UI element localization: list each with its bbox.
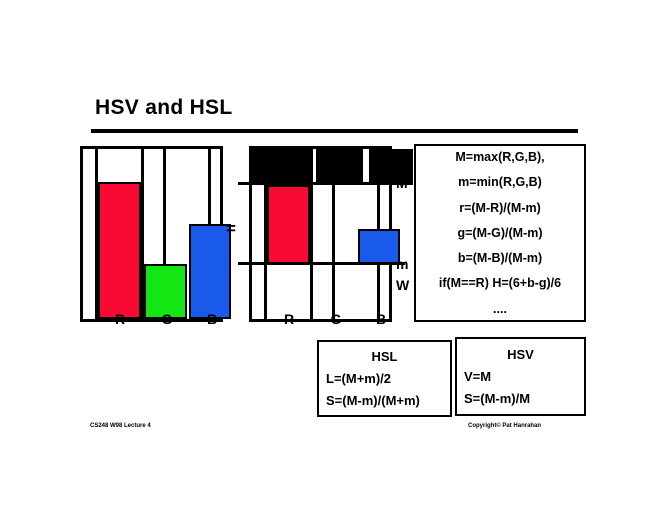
page-title: HSV and HSL [95, 96, 232, 120]
region-label-W: W [396, 277, 409, 293]
footer-copyright: Copyright© Pat Hanrahan [468, 423, 541, 429]
reference-line-M [238, 182, 405, 185]
hsl-heading: HSL [326, 350, 443, 363]
region-black-g [316, 149, 363, 185]
formula-line: m=min(R,G,B) [422, 176, 578, 189]
bar-red [98, 182, 141, 319]
chart-rgb-components [80, 146, 223, 322]
region-label-K: K [396, 155, 406, 171]
axis-label-b-2: B [374, 311, 388, 327]
formula-line: r=(M-R)/(M-m) [422, 202, 578, 215]
formula-line: g=(M-G)/(M-m) [422, 227, 578, 240]
chart-rgb-decomposed [249, 146, 392, 322]
formula-box-hsl: HSL L=(M+m)/2 S=(M-m)/(M+m) [317, 340, 452, 417]
bar-blue [189, 224, 231, 319]
formula-line: .... [422, 303, 578, 316]
formula-line: b=(M-B)/(M-m) [422, 252, 578, 265]
bar-blue-band [358, 229, 400, 265]
axis-label-g: G [160, 311, 174, 327]
footer-course-label: CS248 W98 Lecture 4 [90, 423, 151, 429]
axis-label-r: R [113, 311, 127, 327]
chart-left-plot-area [83, 149, 220, 319]
hsl-formula-saturation: S=(M-m)/(M+m) [326, 394, 443, 407]
hsv-formula-saturation: S=(M-m)/M [464, 392, 577, 405]
region-label-M: M [396, 175, 408, 191]
hsv-heading: HSV [464, 348, 577, 361]
chart-right-plot-area [252, 149, 389, 319]
formula-line: M=max(R,G,B), [422, 151, 578, 164]
axis-label-b: B [205, 311, 219, 327]
column-divider [310, 149, 313, 319]
region-black-r [252, 149, 310, 185]
column-divider [332, 149, 335, 319]
axis-label-g-2: G [329, 311, 343, 327]
equals-sign: = [226, 219, 236, 239]
reference-line-m [238, 262, 405, 265]
formula-box-hsv: HSV V=M S=(M-m)/M [455, 337, 586, 416]
formula-box-conversion: M=max(R,G,B), m=min(R,G,B) r=(M-R)/(M-m)… [414, 144, 586, 322]
axis-label-r-2: R [282, 311, 296, 327]
formula-line: if(M==R) H=(6+b-g)/6 [422, 277, 578, 290]
hsv-formula-value: V=M [464, 370, 577, 383]
region-label-m: m [396, 256, 408, 272]
hsl-formula-lightness: L=(M+m)/2 [326, 372, 443, 385]
bar-red-band [267, 185, 310, 265]
title-underline-divider [91, 129, 578, 133]
